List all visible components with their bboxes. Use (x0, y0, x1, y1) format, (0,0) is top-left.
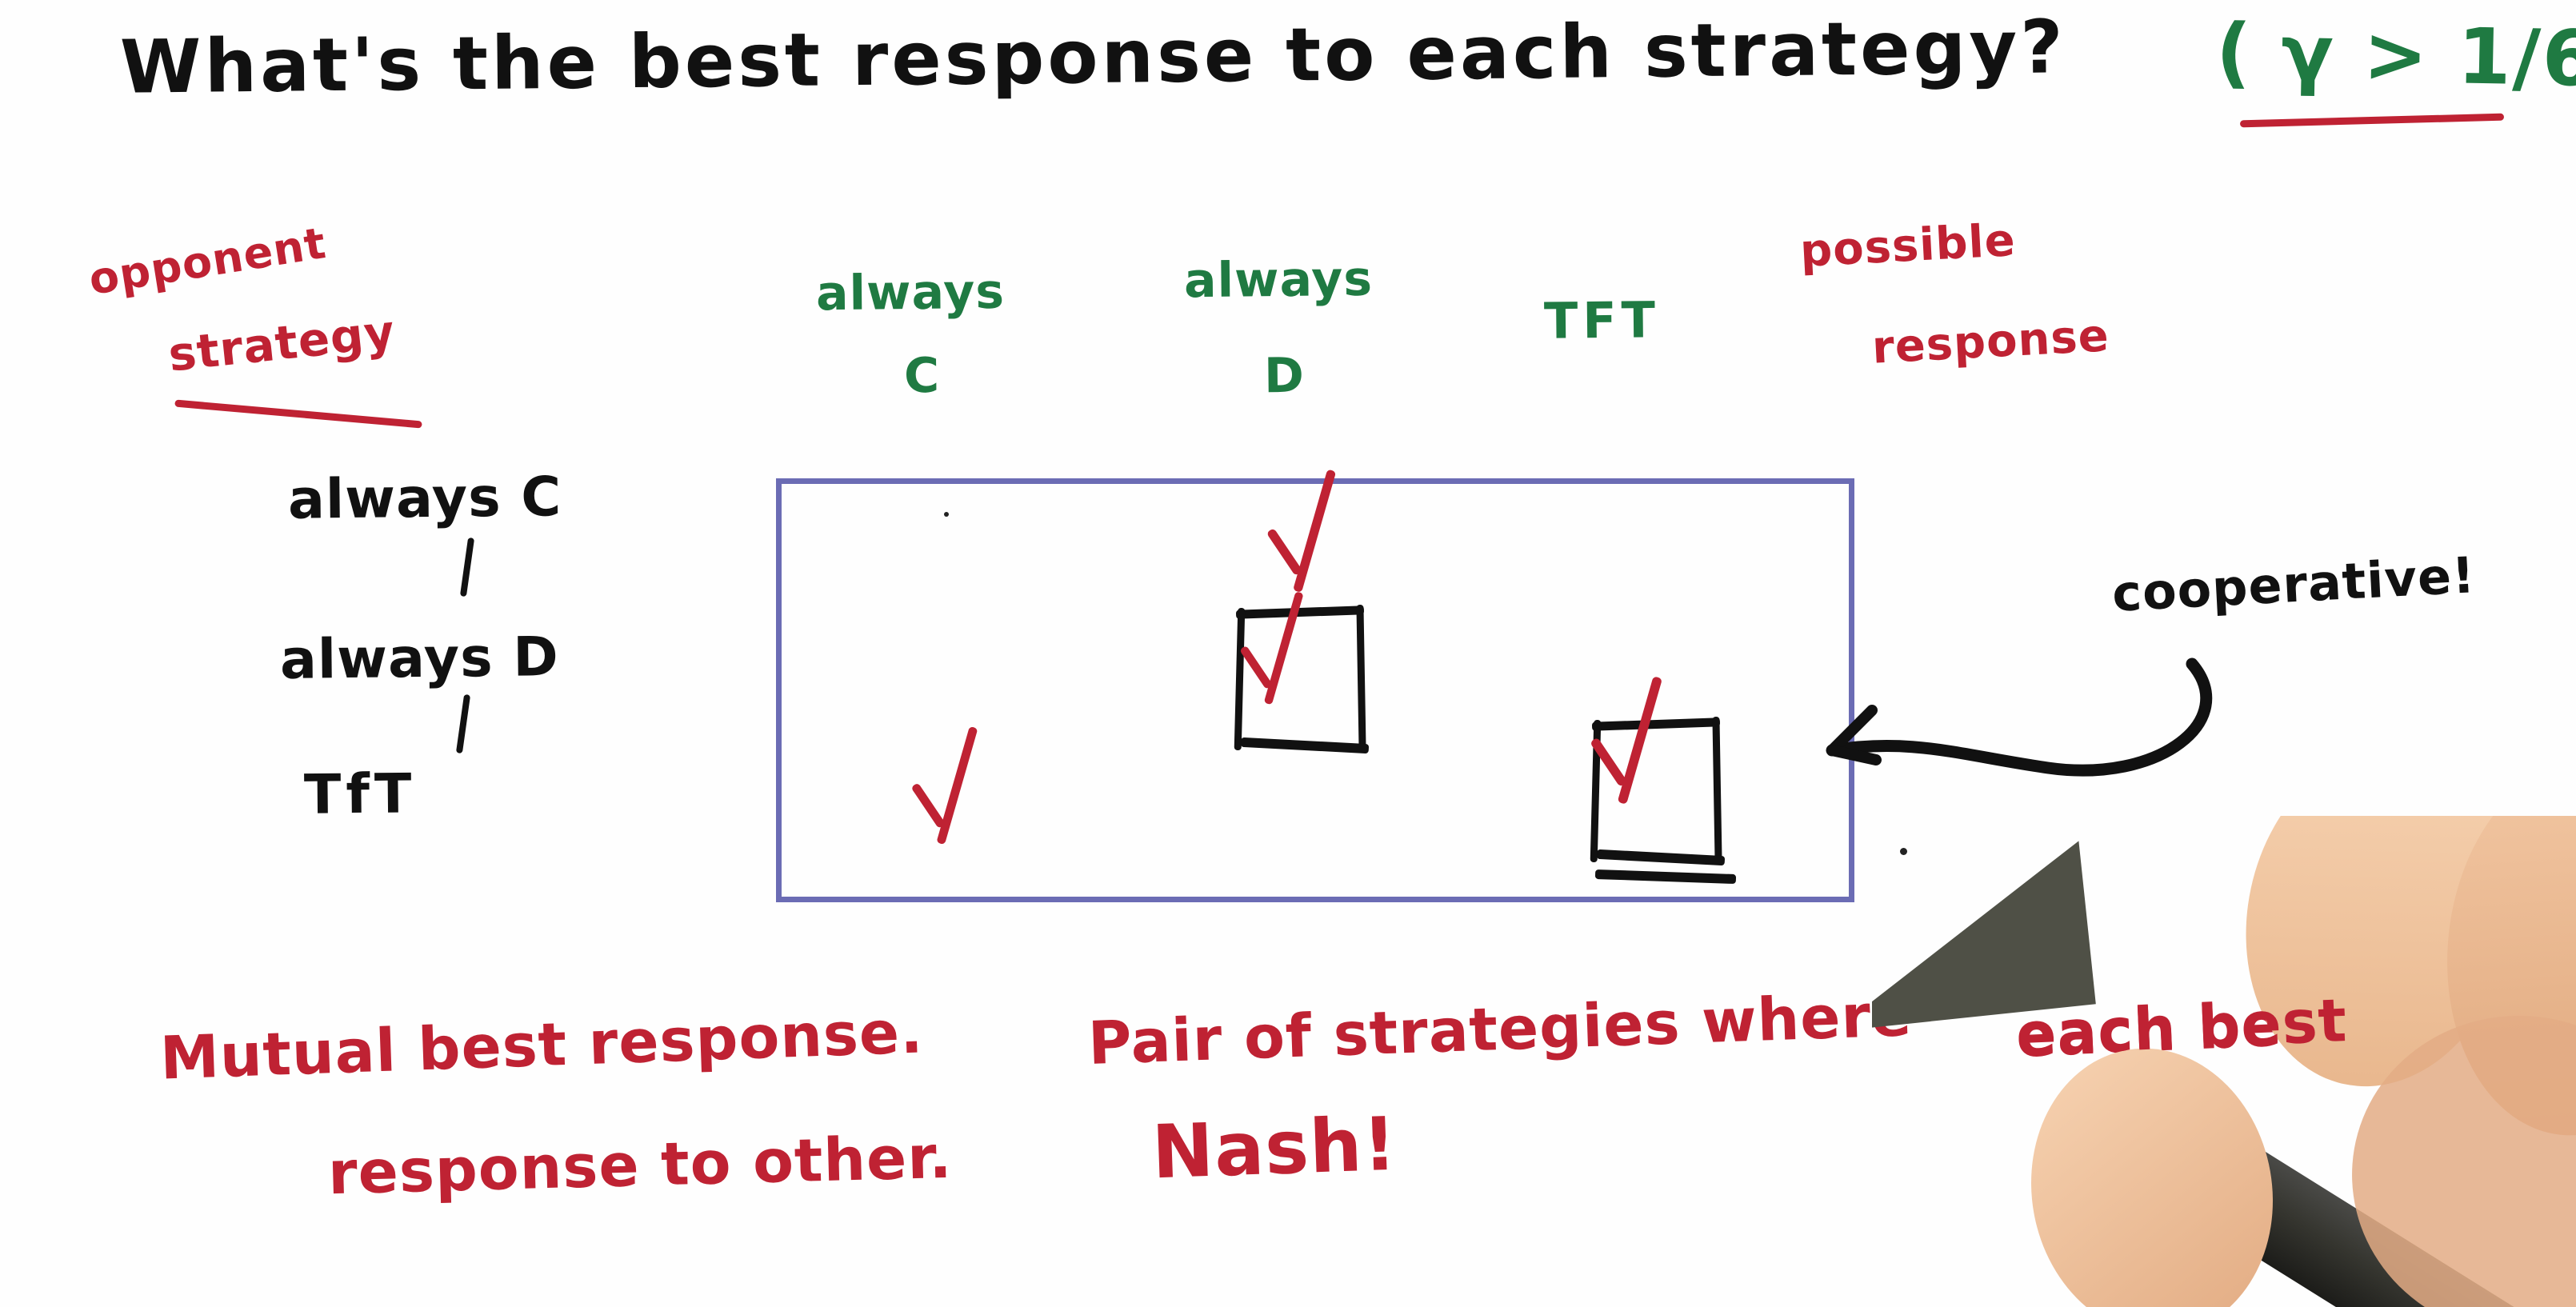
note-mutual-best-response: Mutual best response. (159, 1002, 924, 1088)
stylus-barrel (2062, 1056, 2532, 1307)
whiteboard-canvas: What's the best response to each strateg… (0, 0, 2576, 1307)
opponent-strategy-underline (174, 400, 422, 429)
gamma-underline (2240, 114, 2504, 128)
column-header-always-d-line2: D (1264, 352, 1305, 401)
row-label-always-d: always D (280, 630, 559, 688)
cooperative-annotation: cooperative! (2111, 550, 2477, 619)
note-pair-of-strategies: Pair of strategies where (1087, 985, 1913, 1073)
gamma-condition-annotation: ( γ > 1/6 ) (2215, 14, 2576, 99)
page-title: What's the best response to each strateg… (120, 10, 2067, 104)
possible-response-label-line1: possible (1799, 218, 2017, 274)
stray-ink-dot-1 (944, 512, 949, 517)
column-header-always-c-line2: C (904, 352, 941, 400)
row-connector-tick-2 (456, 694, 470, 753)
finger-index (2215, 816, 2545, 1112)
column-header-always-c-line1: always (816, 268, 1006, 318)
pointer-arrow-to-tft-cell (1712, 648, 2240, 872)
opponent-strategy-label-line2: strategy (166, 308, 398, 378)
column-header-always-d-line1: always (1184, 255, 1374, 305)
note-each-best: each best (2015, 993, 2349, 1066)
finger-thumb (2429, 816, 2576, 1149)
column-header-tft: TFT (1544, 295, 1661, 346)
finger-middle (2009, 1029, 2295, 1307)
opponent-strategy-label-line1: opponent (86, 222, 330, 302)
row-connector-tick-1 (460, 538, 474, 597)
note-response-to-other: response to other. (327, 1128, 953, 1203)
note-nash: Nash! (1150, 1108, 1398, 1190)
row-label-always-c: always C (288, 470, 562, 528)
possible-response-label-line2: response (1871, 314, 2110, 370)
row-label-tft: TfT (304, 767, 417, 822)
hand-shadow (2342, 1005, 2576, 1307)
